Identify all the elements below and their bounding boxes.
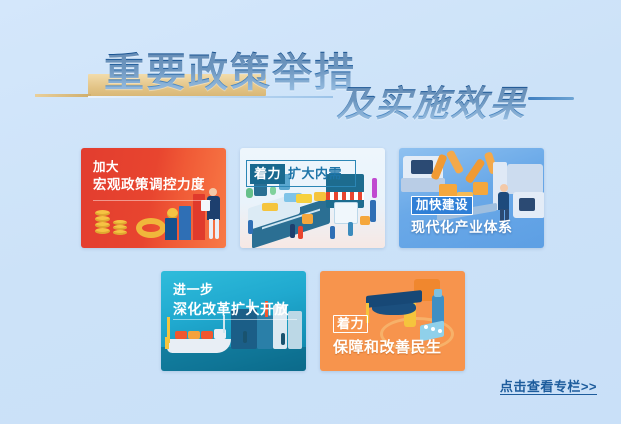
awning-shape: [326, 192, 364, 200]
card-caption-line-2: 保障和改善民生: [333, 339, 442, 357]
machine-screen-2: [519, 198, 535, 211]
card-caption-line-2: 宏观政策调控力度: [93, 177, 205, 193]
card-caption-rule: [173, 319, 297, 320]
container-icon-1: [175, 331, 187, 339]
policy-card-expand-demand[interactable]: 着力扩大内需: [240, 148, 385, 248]
card-caption-line-1: 进一步: [173, 282, 289, 298]
view-column-link[interactable]: 点击查看专栏>>: [500, 376, 597, 395]
card-caption-line-2: 扩大内需: [288, 166, 342, 182]
gold-rule-decoration: [35, 94, 91, 97]
person-icon-2: [290, 224, 295, 238]
page-title-line-1: 重要政策举措: [104, 40, 356, 98]
title-tail-rule: [528, 97, 574, 100]
person-icon-4: [330, 226, 335, 239]
title-block: 重要政策举措 及实施效果: [0, 0, 621, 135]
person-icon-3: [298, 226, 303, 239]
car-icon-yellow: [262, 203, 278, 211]
robot-arm-2: [446, 150, 464, 175]
bar-icon-1: [165, 218, 177, 240]
storefront-window: [334, 202, 358, 224]
parcel-icon-2: [314, 192, 326, 201]
person-icon-1: [248, 220, 253, 234]
view-column-link-label: 点击查看专栏>>: [500, 379, 597, 395]
truck-icon: [296, 194, 312, 203]
person-analyst-icon: [205, 188, 223, 240]
policy-card-macro-control[interactable]: 加大 宏观政策调控力度: [81, 148, 226, 248]
ship-hull: [167, 339, 231, 353]
parcel-icon: [302, 214, 313, 224]
machine-screen: [411, 160, 433, 174]
balloon-icon: [372, 178, 377, 198]
card-caption-line-2: 深化改革扩大开放: [173, 301, 289, 318]
person-icon-6: [370, 200, 376, 222]
person-icon-2: [281, 333, 285, 345]
card-caption: 加大 宏观政策调控力度: [93, 160, 205, 194]
policy-card-livelihood[interactable]: 着力 保障和改善民生: [320, 271, 465, 371]
machine-shape-2: [507, 164, 543, 194]
tree-icon-2: [270, 186, 276, 195]
container-icon-3: [201, 331, 213, 339]
card-caption-line-2: 现代化产业体系: [411, 219, 513, 236]
crate-icon-3: [473, 182, 488, 195]
person-icon-5: [348, 222, 353, 236]
card-caption: 进一步 深化改革扩大开放: [173, 282, 289, 318]
building-shape-4: [288, 311, 302, 349]
card-caption-line-1: 着力: [333, 315, 368, 333]
building-shape-2: [257, 315, 273, 349]
card-caption: 加快建设 现代化产业体系: [411, 195, 513, 236]
card-caption: 着力扩大内需: [250, 164, 342, 184]
page-title-line-2: 及实施效果: [336, 75, 529, 127]
card-caption-line-1: 加大: [93, 160, 205, 175]
tree-icon: [246, 188, 253, 198]
card-caption-line-1: 加快建设: [411, 196, 473, 215]
parcel-icon-3: [360, 216, 370, 225]
policy-card-reform-opening[interactable]: 进一步 深化改革扩大开放: [161, 271, 306, 371]
person-icon-1: [243, 331, 247, 343]
growth-bar-1: [165, 337, 169, 349]
poster-canvas: 重要政策举措 及实施效果: [0, 0, 621, 424]
bar-icon-2: [179, 206, 191, 240]
card-caption-line-1: 着力: [250, 164, 285, 184]
bottle-cap: [434, 289, 442, 297]
robot-arm-3: [464, 158, 485, 184]
coin-ring-icon: [136, 218, 166, 238]
card-caption: 着力 保障和改善民生: [333, 314, 442, 357]
policy-card-industrial-system[interactable]: 加快建设 现代化产业体系: [399, 148, 544, 248]
container-icon-2: [188, 331, 200, 339]
card-caption-rule: [93, 200, 211, 201]
